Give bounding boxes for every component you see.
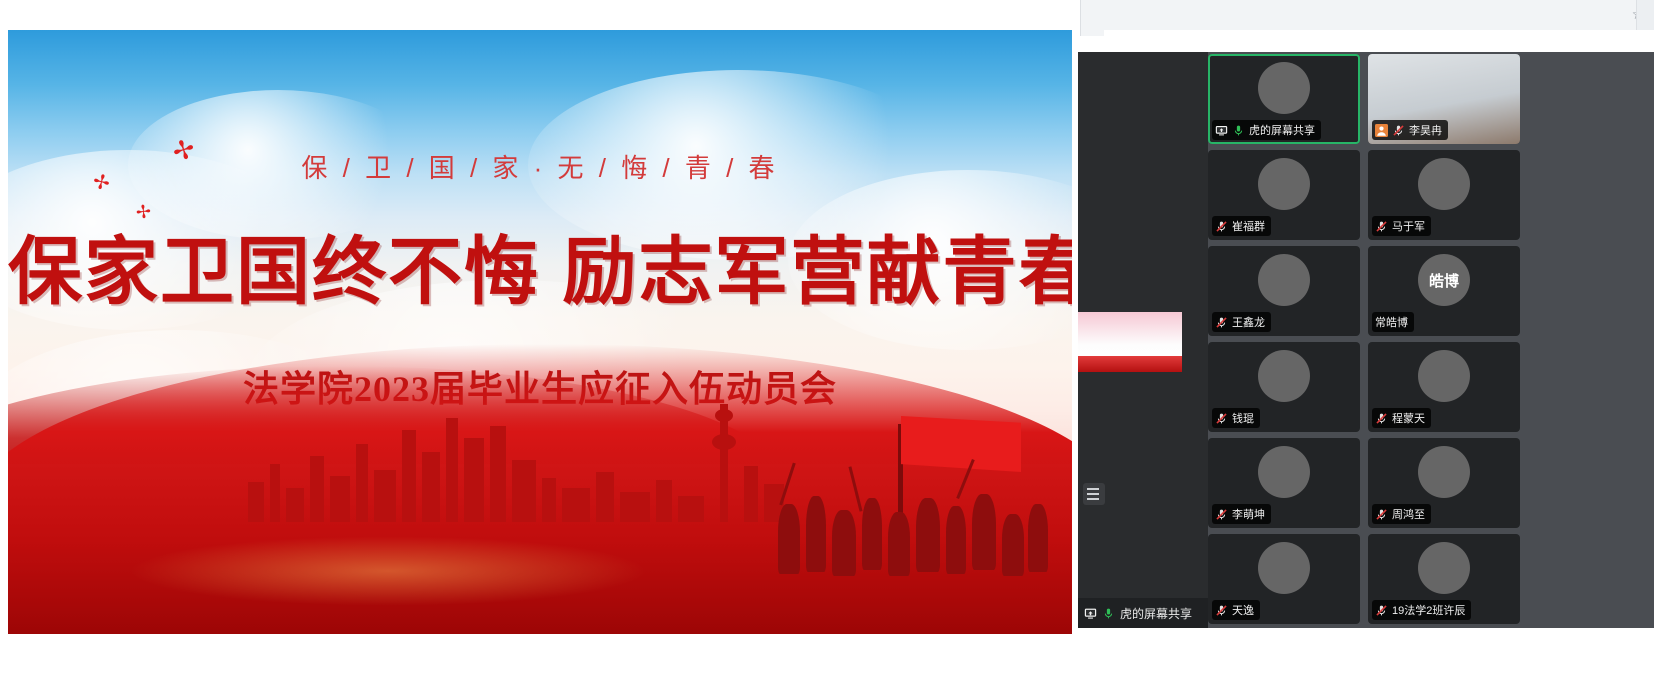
microphone-icon — [1232, 124, 1245, 137]
screen-share-icon — [1084, 607, 1097, 620]
participant-name: 程蒙天 — [1392, 410, 1425, 426]
participant-tile[interactable]: 李昊冉 — [1368, 54, 1520, 144]
microphone-muted-icon — [1215, 220, 1228, 233]
microphone-muted-icon — [1375, 220, 1388, 233]
slide-subtitle: 保 / 卫 / 国 / 家 · 无 / 悔 / 青 / 春 — [8, 148, 1072, 185]
avatar — [1258, 542, 1310, 594]
microphone-muted-icon — [1215, 604, 1228, 617]
participant-name-badge: 常皓博 — [1372, 312, 1414, 332]
participant-tile[interactable]: 崔福群 — [1208, 150, 1360, 240]
participant-tile[interactable]: 天逸 — [1208, 534, 1360, 624]
participant-tile[interactable]: 王鑫龙 — [1208, 246, 1360, 336]
person-badge-icon — [1375, 124, 1388, 137]
participant-name: 王鑫龙 — [1232, 314, 1265, 330]
participant-name: 李昊冉 — [1409, 122, 1442, 138]
microphone-muted-icon — [1215, 508, 1228, 521]
participant-tile[interactable]: 马于军 — [1368, 150, 1520, 240]
avatar — [1258, 254, 1310, 306]
stage-share-label-text: 虎的屏幕共享 — [1120, 605, 1192, 622]
participant-name-badge: 李萌坤 — [1212, 504, 1271, 524]
page-background-right-bottom — [1104, 628, 1654, 684]
participant-name-badge: 王鑫龙 — [1212, 312, 1271, 332]
avatar — [1418, 350, 1470, 402]
microphone-muted-icon — [1375, 508, 1388, 521]
avatar: 皓博 — [1418, 254, 1470, 306]
participant-tile[interactable]: 李萌坤 — [1208, 438, 1360, 528]
microphone-muted-icon — [1375, 604, 1388, 617]
microphone-muted-icon — [1215, 412, 1228, 425]
red-flag — [901, 416, 1021, 472]
participant-name: 马于军 — [1392, 218, 1425, 234]
participant-name: 19法学2班许辰 — [1392, 602, 1465, 618]
page-white-gap — [1104, 30, 1654, 54]
participant-tile[interactable]: 皓博 常皓博 — [1368, 246, 1520, 336]
avatar — [1258, 62, 1310, 114]
ground-highlight — [128, 536, 648, 606]
avatar — [1418, 158, 1470, 210]
participant-name-badge: 周鸿至 — [1372, 504, 1431, 524]
avatar — [1258, 350, 1310, 402]
participant-tile[interactable]: 钱琨 — [1208, 342, 1360, 432]
participant-name: 崔福群 — [1232, 218, 1265, 234]
microphone-muted-icon — [1375, 412, 1388, 425]
participant-name-badge: 钱琨 — [1212, 408, 1260, 428]
participant-name-badge: 李昊冉 — [1372, 120, 1448, 140]
avatar — [1258, 158, 1310, 210]
participant-name-badge: 虎的屏幕共享 — [1212, 120, 1321, 140]
participant-grid: 虎的屏幕共享 李昊冉 崔福群 马于军 王鑫龙 皓博 常皓博 钱琨 程蒙天 — [1208, 52, 1654, 628]
page-background-top — [0, 0, 1080, 30]
screen-root: ☆ ✢ ✢ ✢ 保 / 卫 / 国 / 家 · 无 / 悔 / 青 / 春 保家… — [0, 0, 1654, 684]
avatar — [1258, 446, 1310, 498]
participant-name-badge: 天逸 — [1212, 600, 1260, 620]
participant-tile[interactable]: 程蒙天 — [1368, 342, 1520, 432]
slide-main-title: 保家卫国终不悔 励志军营献青春 — [8, 212, 1072, 319]
participant-tile[interactable]: 19法学2班许辰 — [1368, 534, 1520, 624]
participant-tile[interactable]: 虎的屏幕共享 — [1208, 54, 1360, 144]
participant-name: 天逸 — [1232, 602, 1254, 618]
participant-name: 李萌坤 — [1232, 506, 1265, 522]
participant-name-badge: 崔福群 — [1212, 216, 1271, 236]
participant-name-badge: 19法学2班许辰 — [1372, 600, 1471, 620]
participant-name: 周鸿至 — [1392, 506, 1425, 522]
participant-name-badge: 程蒙天 — [1372, 408, 1431, 428]
participant-name: 钱琨 — [1232, 410, 1254, 426]
microphone-muted-icon — [1215, 316, 1228, 329]
microphone-muted-icon — [1392, 124, 1405, 137]
participant-name: 虎的屏幕共享 — [1249, 122, 1315, 138]
layout-list-icon[interactable] — [1083, 483, 1105, 505]
avatar — [1418, 542, 1470, 594]
participant-name-badge: 马于军 — [1372, 216, 1431, 236]
participant-name: 常皓博 — [1375, 314, 1408, 330]
microphone-icon — [1102, 607, 1115, 620]
avatar — [1418, 446, 1470, 498]
shared-screen-thumbnail[interactable] — [1078, 312, 1182, 372]
page-background-bottom — [0, 634, 1080, 684]
participant-tile[interactable]: 周鸿至 — [1368, 438, 1520, 528]
shared-screen-slide: ✢ ✢ ✢ 保 / 卫 / 国 / 家 · 无 / 悔 / 青 / 春 保家卫国… — [8, 30, 1072, 634]
stage-share-label: 虎的屏幕共享 — [1078, 598, 1208, 628]
screen-share-icon — [1215, 124, 1228, 137]
